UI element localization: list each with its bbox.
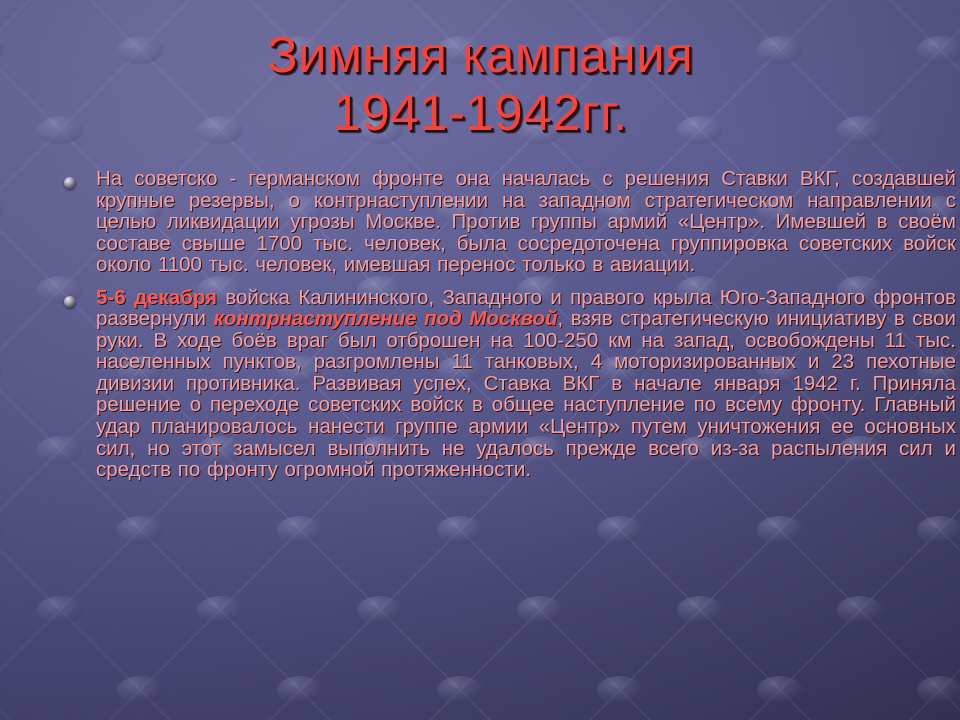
bullet-paragraph-2: 5-6 декабря войска Калининского, Западно… bbox=[96, 287, 956, 481]
paragraph-segment-emphasis-date: 5-6 декабря bbox=[96, 286, 217, 309]
page-title: Зимняя кампания 1941-1942гг. bbox=[60, 26, 900, 142]
title-line-2: 1941-1942гг. bbox=[60, 84, 900, 142]
paragraph-segment: , взяв стратегическую инициативу в свои … bbox=[96, 307, 956, 481]
list-item: На советско - германском фронте она нача… bbox=[56, 168, 956, 276]
slide-body: На советско - германском фронте она нача… bbox=[56, 168, 956, 483]
paragraph-segment: На советско - германском фронте она нача… bbox=[96, 167, 956, 276]
bullet-paragraph-1: На советско - германском фронте она нача… bbox=[96, 168, 956, 276]
list-item: 5-6 декабря войска Калининского, Западно… bbox=[56, 287, 956, 481]
title-line-1: Зимняя кампания bbox=[60, 26, 900, 84]
presentation-slide: Зимняя кампания 1941-1942гг. На советско… bbox=[0, 0, 960, 720]
sphere-bullet-icon bbox=[64, 296, 76, 308]
sphere-bullet-icon bbox=[64, 177, 76, 189]
paragraph-segment-emphasis-operation: контрнаступление под Москвой bbox=[213, 307, 557, 330]
